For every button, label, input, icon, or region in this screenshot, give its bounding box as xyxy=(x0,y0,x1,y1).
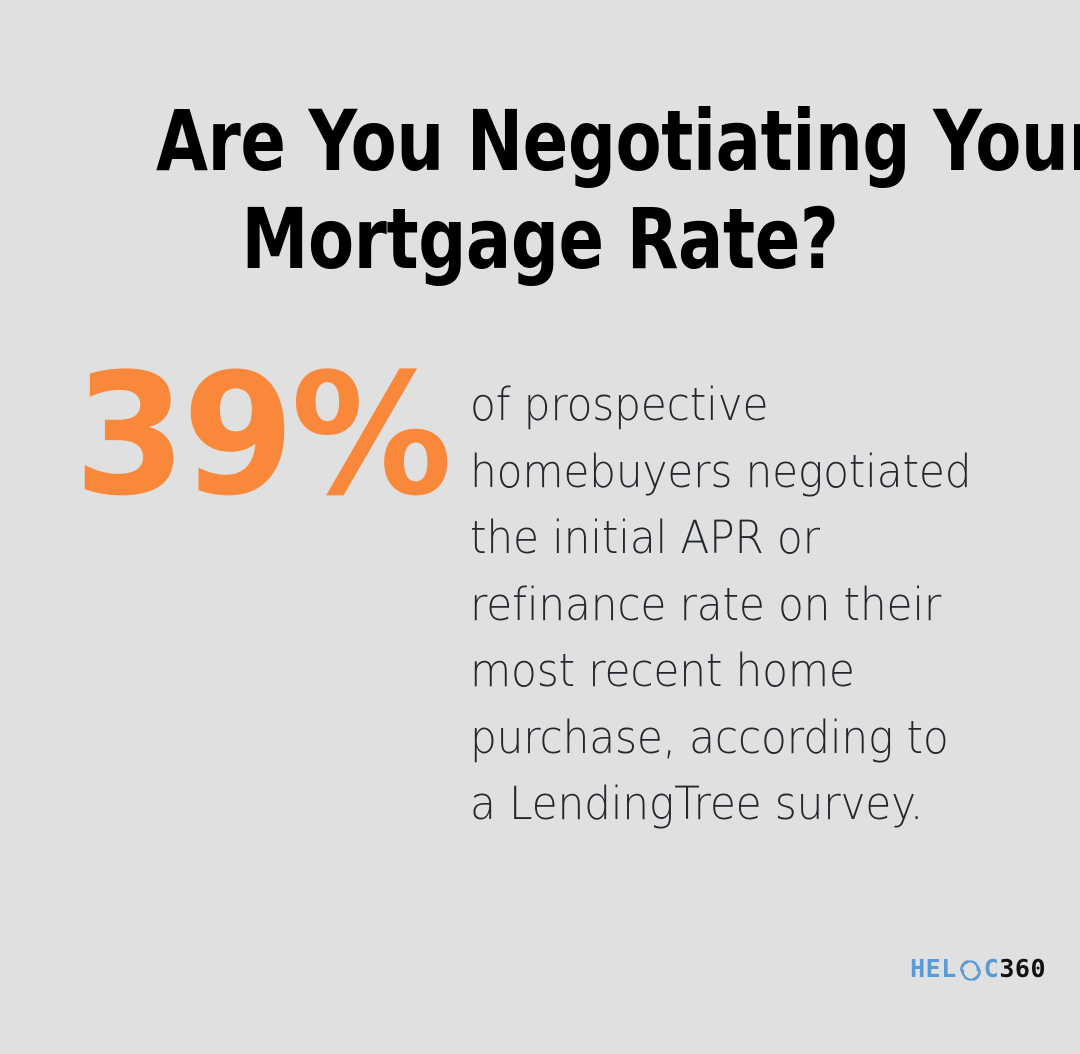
stat-content-row: 39% of prospective homebuyers negotiated… xyxy=(0,360,1080,838)
pinwheel-swirl-icon xyxy=(958,958,983,983)
body-line: the initial APR or xyxy=(470,505,991,572)
body-text-column: of prospective homebuyers negotiated the… xyxy=(470,360,1080,838)
body-line: homebuyers negotiated xyxy=(470,439,991,506)
infographic-canvas: Are You Negotiating Your Mortgage Rate? … xyxy=(0,0,1080,1054)
stat-column: 39% xyxy=(0,360,470,510)
body-line: of prospective xyxy=(470,372,991,439)
stat-percentage: 39% xyxy=(74,360,454,510)
title-line-2: Mortgage Rate? xyxy=(156,190,924,288)
title-line-1: Are You Negotiating Your xyxy=(156,92,924,190)
heloc360-logo[interactable]: HEL C 360 xyxy=(910,954,1046,984)
logo-text-hel: HEL xyxy=(910,956,957,982)
body-line: purchase, according to xyxy=(470,705,991,772)
body-line: a LendingTree survey. xyxy=(470,771,991,838)
logo-text-360: 360 xyxy=(999,956,1046,982)
logo-text-c: C xyxy=(984,956,1000,982)
body-line: refinance rate on their xyxy=(470,572,991,639)
body-line: most recent home xyxy=(470,638,991,705)
page-title: Are You Negotiating Your Mortgage Rate? xyxy=(60,92,1020,288)
